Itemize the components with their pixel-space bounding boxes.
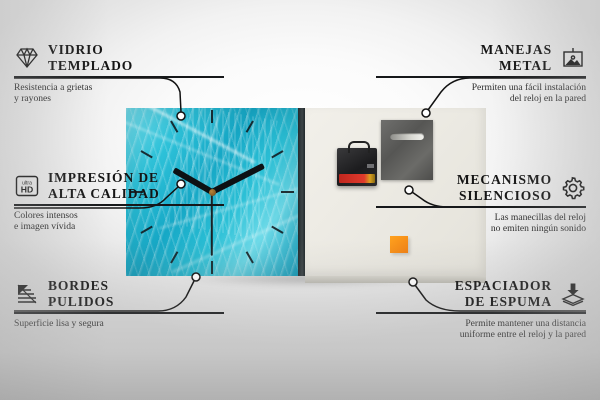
feature-rule: [376, 206, 586, 208]
clock-tick: [140, 150, 152, 158]
feature-impresion-alta-calidad[interactable]: ultra HD IMPRESIÓN DE ALTA CALIDAD Color…: [14, 170, 224, 233]
mechanism-chip: [367, 164, 374, 168]
feature-description: Las manecillas del reloj no emiten ningú…: [376, 212, 586, 235]
clock-tick: [271, 150, 283, 158]
clock-tick: [170, 120, 178, 132]
clock-tick: [246, 120, 254, 132]
feature-header: VIDRIO TEMPLADO: [14, 42, 224, 73]
clock-tick: [271, 226, 283, 234]
metal-hanger-plate: [381, 120, 433, 180]
feature-rule: [376, 312, 586, 314]
feature-header: BORDES PULIDOS: [14, 278, 224, 309]
hanger-slot: [390, 133, 424, 140]
feature-header: ESPACIADOR DE ESPUMA: [376, 278, 586, 309]
feature-manejas-metal[interactable]: MANEJAS METAL Permiten una fácil instala…: [376, 42, 586, 105]
feature-description: Permiten una fácil instalación del reloj…: [376, 82, 586, 105]
feature-rule: [14, 76, 224, 78]
clock-tick: [281, 191, 294, 193]
feature-description: Resistencia a grietas y rayones: [14, 82, 224, 105]
feature-header: ultra HD IMPRESIÓN DE ALTA CALIDAD: [14, 170, 224, 201]
feature-rule: [14, 312, 224, 314]
foam-spacer-icon: [560, 281, 586, 307]
ultra-hd-icon: ultra HD: [14, 173, 40, 199]
clock-tick: [170, 251, 178, 263]
polished-edges-icon: [14, 281, 40, 307]
clock-tick: [211, 261, 213, 274]
feature-title: VIDRIO TEMPLADO: [48, 42, 133, 73]
battery: [339, 174, 375, 183]
feature-rule: [376, 76, 586, 78]
clock-tick: [246, 251, 254, 263]
feature-header: MECANISMO SILENCIOSO: [376, 172, 586, 203]
clock-edge: [298, 108, 305, 276]
infographic-canvas: VIDRIO TEMPLADO Resistencia a grietas y …: [0, 0, 600, 400]
feature-mecanismo-silencioso[interactable]: MECANISMO SILENCIOSO Las manecillas del …: [376, 172, 586, 235]
clock-mechanism: [337, 148, 377, 186]
gear-icon: [560, 175, 586, 201]
feature-description: Colores intensos e imagen vívida: [14, 210, 224, 233]
feature-title: IMPRESIÓN DE ALTA CALIDAD: [48, 170, 160, 201]
diamond-icon: [14, 45, 40, 71]
picture-frame-icon: [560, 45, 586, 71]
feature-title: MECANISMO SILENCIOSO: [457, 172, 552, 203]
feature-description: Permite mantener una distancia uniforme …: [376, 318, 586, 341]
clock-tick: [211, 110, 213, 123]
feature-bordes-pulidos[interactable]: BORDES PULIDOS Superficie lisa y segura: [14, 278, 224, 329]
feature-title: ESPACIADOR DE ESPUMA: [455, 278, 552, 309]
svg-text:HD: HD: [21, 184, 33, 194]
feature-rule: [14, 204, 224, 206]
mechanism-loop: [348, 141, 370, 153]
foam-spacer: [390, 236, 408, 253]
feature-header: MANEJAS METAL: [376, 42, 586, 73]
feature-vidrio-templado[interactable]: VIDRIO TEMPLADO Resistencia a grietas y …: [14, 42, 224, 105]
feature-description: Superficie lisa y segura: [14, 318, 224, 330]
feature-espaciador-de-espuma[interactable]: ESPACIADOR DE ESPUMA Permite mantener un…: [376, 278, 586, 341]
feature-title: MANEJAS METAL: [480, 42, 552, 73]
feature-title: BORDES PULIDOS: [48, 278, 114, 309]
